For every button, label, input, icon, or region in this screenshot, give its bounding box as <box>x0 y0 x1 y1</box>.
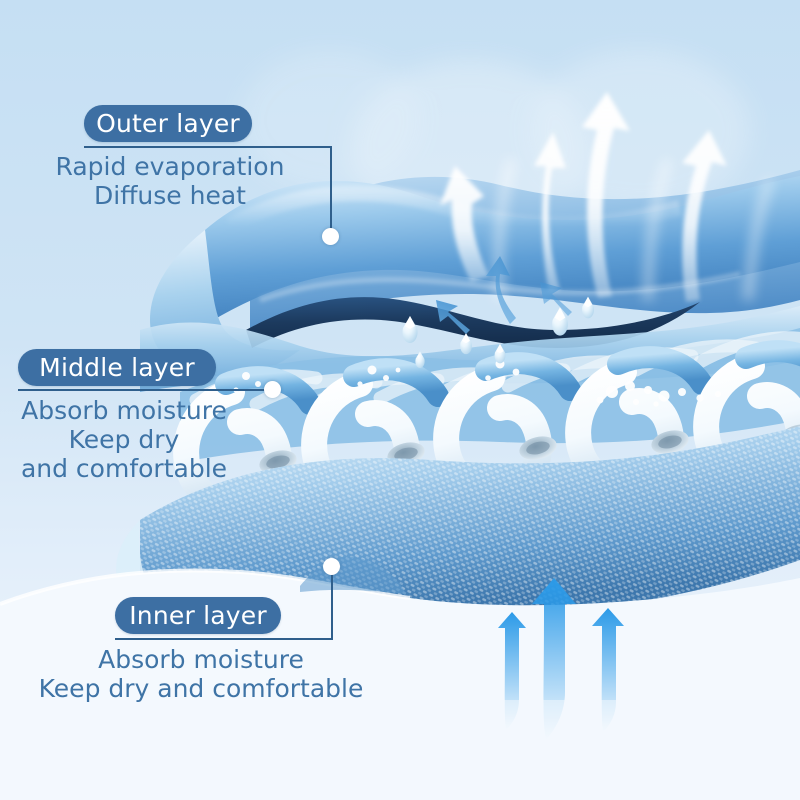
connector-outer-horizontal <box>84 146 332 148</box>
badge-outer-layer-label: Outer layer <box>96 109 240 138</box>
badge-middle-layer[interactable]: Middle layer <box>18 349 216 386</box>
connector-inner-horizontal <box>115 638 333 640</box>
connector-middle-horizontal <box>18 389 274 391</box>
connector-dot-outer <box>322 228 339 245</box>
badge-middle-layer-label: Middle layer <box>39 353 195 382</box>
badge-inner-layer-label: Inner layer <box>129 601 267 630</box>
badge-outer-layer[interactable]: Outer layer <box>84 105 252 142</box>
description-inner-layer: Absorb moisture Keep dry and comfortable <box>36 645 366 703</box>
connector-dot-inner <box>323 558 340 575</box>
infographic-canvas: Outer layer Rapid evaporation Diffuse he… <box>0 0 800 800</box>
description-middle-layer: Absorb moisture Keep dry and comfortable <box>0 396 248 483</box>
connector-outer-vertical <box>330 146 332 236</box>
connector-dot-middle <box>264 381 281 398</box>
connector-inner-vertical <box>331 572 333 640</box>
badge-inner-layer[interactable]: Inner layer <box>115 597 281 634</box>
description-outer-layer: Rapid evaporation Diffuse heat <box>40 152 300 210</box>
